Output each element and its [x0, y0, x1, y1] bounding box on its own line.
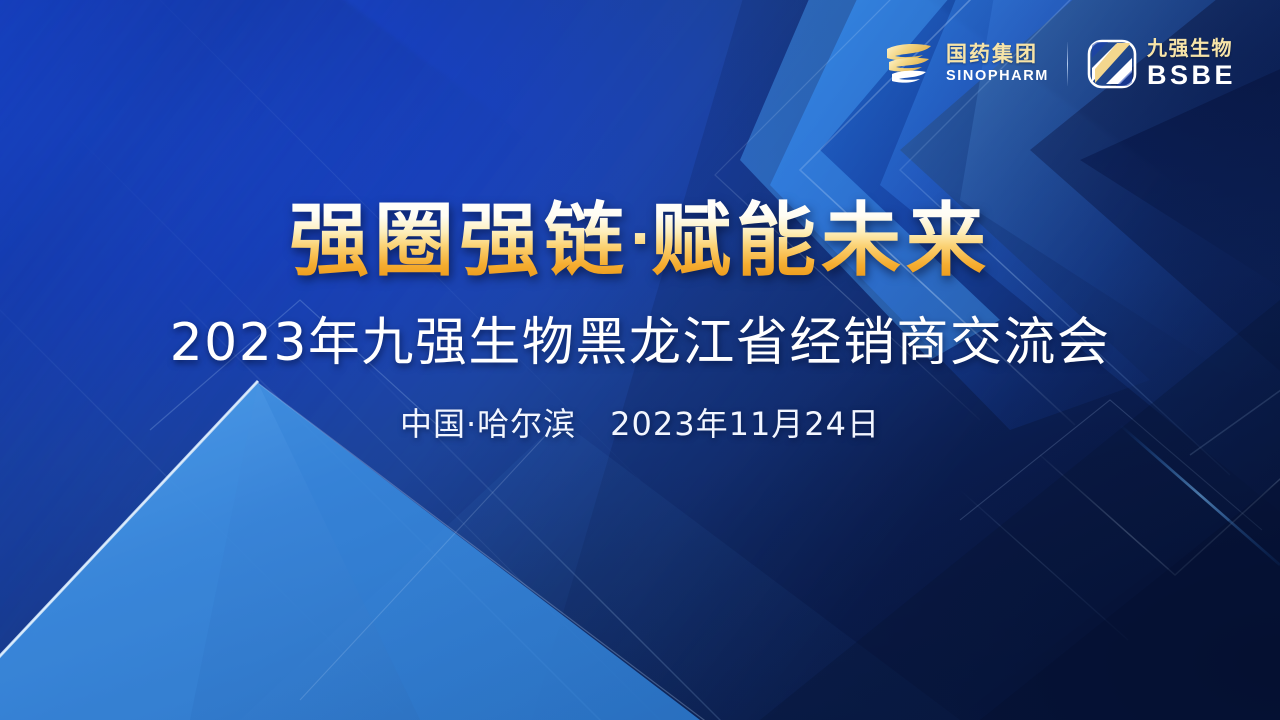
sinopharm-en-name: SINOPHARM	[946, 69, 1049, 84]
logo-bar: 国药集团 SINOPHARM	[883, 38, 1236, 90]
event-banner: 国药集团 SINOPHARM	[0, 0, 1280, 720]
bsbe-logo: 九强生物 BSBE	[1086, 38, 1236, 90]
main-title-part2: 赋能未来	[651, 194, 991, 287]
main-title-separator-dot: ·	[629, 205, 651, 273]
sinopharm-logo: 国药集团 SINOPHARM	[883, 41, 1049, 87]
event-date: 2023年11月24日	[610, 405, 880, 443]
headline-block: 强圈强链·赋能未来 2023年九强生物黑龙江省经销商交流会 中国·哈尔滨2023…	[0, 196, 1280, 445]
sub-title: 2023年九强生物黑龙江省经销商交流会	[0, 300, 1280, 375]
bsbe-en-name: BSBE	[1147, 62, 1236, 89]
bsbe-s-mark	[1086, 38, 1138, 90]
sinopharm-wordmark: 国药集团 SINOPHARM	[946, 44, 1049, 84]
sinopharm-wave-mark	[883, 41, 937, 87]
bsbe-wordmark: 九强生物 BSBE	[1147, 39, 1236, 89]
bsbe-cn-name: 九强生物	[1147, 39, 1236, 59]
sinopharm-cn-name: 国药集团	[946, 44, 1049, 65]
main-title-part1: 强圈强链	[289, 194, 629, 287]
event-location: 中国·哈尔滨	[400, 405, 576, 443]
logo-divider	[1067, 42, 1068, 86]
main-title: 强圈强链·赋能未来	[289, 196, 991, 286]
date-line: 中国·哈尔滨2023年11月24日	[0, 399, 1280, 445]
